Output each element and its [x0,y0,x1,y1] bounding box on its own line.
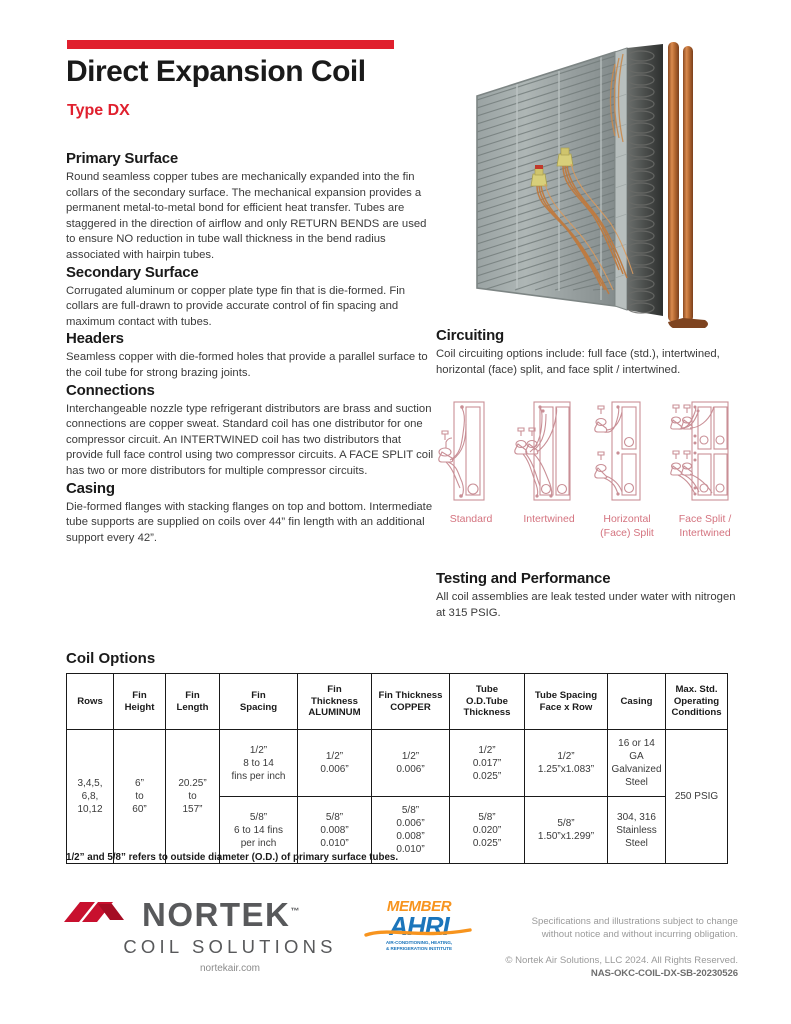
section-body: Corrugated aluminum or copper plate type… [66,284,434,331]
ahri-member-badge: MEMBER AHRI AIR-CONDITIONING, HEATING, &… [360,900,478,952]
coil-illustration [455,38,743,328]
disclaimer-line-1: Specifications and illustrations subject… [490,915,738,928]
cell-fin-thickness-aluminum: 1/2” 0.006” [298,730,372,797]
document-code: NAS-OKC-COIL-DX-SB-20230526 [490,967,738,980]
nortek-chevron-mark-icon [64,900,136,930]
cell-tube-spacing: 1/2” 1.25”x1.083” [525,730,608,797]
cell-fin-length: 20.25” to 157” [166,730,220,864]
standard-circuit-icon [432,396,510,504]
circuiting-label: Standard [432,512,510,526]
section-heading: Casing [66,480,434,497]
col-header-fin-length: Fin Length [166,674,220,730]
trademark-symbol: ™ [290,906,299,916]
cell-tube-od-thickness: 1/2” 0.017” 0.025” [450,730,525,797]
circuiting-label: Intertwined [510,512,588,526]
col-header-fin-spacing: Fin Spacing [220,674,298,730]
face-split-intertwined-circuit-icon [666,396,744,504]
cell-fin-thickness-copper: 1/2” 0.006” [372,730,450,797]
section-body: Coil circuiting options include: full fa… [436,347,736,378]
coil-options-table: Rows Fin Height Fin Length Fin Spacing F… [66,673,728,864]
copyright-notice: © Nortek Air Solutions, LLC 2024. All Ri… [490,954,738,967]
section-circuiting: Circuiting Coil circuiting options inclu… [436,327,736,378]
nortek-wordmark: NORTEK™ [142,898,299,931]
circuiting-label: Horizontal (Face) Split [588,512,666,540]
table-title: Coil Options [66,650,155,667]
legal-footer: Specifications and illustrations subject… [490,915,738,980]
section-secondary-surface: Secondary Surface Corrugated aluminum or… [66,264,434,331]
col-header-max-std-operating-conditions: Max. Std. Operating Conditions [666,674,728,730]
col-header-fin-thickness-copper: Fin Thickness COPPER [372,674,450,730]
nortek-tagline: COIL SOLUTIONS [64,936,354,958]
cell-tube-spacing: 5/8” 1.50”x1.299” [525,797,608,864]
nortek-logo: NORTEK™ COIL SOLUTIONS [64,898,354,958]
circuiting-diagram-standard: Standard [432,396,510,526]
circuiting-diagram-face-split-intertwined: Face Split / Intertwined [666,396,744,540]
circuiting-label: Face Split / Intertwined [666,512,744,540]
table-header-row: Rows Fin Height Fin Length Fin Spacing F… [67,674,728,730]
section-body: All coil assemblies are leak tested unde… [436,590,736,621]
website-url[interactable]: nortekair.com [64,963,354,974]
section-heading: Primary Surface [66,150,434,167]
col-header-fin-thickness-aluminum: Fin Thickness ALUMINUM [298,674,372,730]
section-body: Die-formed flanges with stacking flanges… [66,500,434,547]
header-accent-rule [67,40,394,49]
ahri-tagline: AIR-CONDITIONING, HEATING, & REFRIGERATI… [360,940,478,952]
cell-max-std-operating-conditions: 250 PSIG [666,730,728,864]
section-heading: Headers [66,330,434,347]
col-header-tube-spacing: Tube Spacing Face x Row [525,674,608,730]
section-heading: Connections [66,382,434,399]
section-heading: Testing and Performance [436,570,736,587]
section-casing: Casing Die-formed flanges with stacking … [66,480,434,547]
cell-tube-od-thickness: 5/8” 0.020” 0.025” [450,797,525,864]
horizontal-split-circuit-icon [588,396,666,504]
circuiting-diagram-row: Standard [432,396,744,561]
section-primary-surface: Primary Surface Round seamless copper tu… [66,150,434,264]
page-title: Direct Expansion Coil [66,55,366,89]
section-connections: Connections Interchangeable nozzle type … [66,382,434,480]
section-body: Seamless copper with die-formed holes th… [66,350,434,381]
section-heading: Circuiting [436,327,736,344]
col-header-fin-height: Fin Height [114,674,166,730]
cell-casing: 16 or 14 GA Galvanized Steel [608,730,666,797]
table-footnote: 1/2” and 5/8” refers to outside diameter… [66,852,398,863]
product-photo-dx-coil [455,38,743,328]
section-heading: Secondary Surface [66,264,434,281]
cell-rows: 3,4,5, 6,8, 10,12 [67,730,114,864]
intertwined-circuit-icon [510,396,588,504]
cell-fin-height: 6” to 60” [114,730,166,864]
circuiting-diagram-horizontal-face-split: Horizontal (Face) Split [588,396,666,540]
section-body: Round seamless copper tubes are mechanic… [66,170,434,264]
col-header-casing: Casing [608,674,666,730]
cell-fin-spacing: 1/2” 8 to 14 fins per inch [220,730,298,797]
col-header-rows: Rows [67,674,114,730]
section-testing-and-performance: Testing and Performance All coil assembl… [436,570,736,621]
col-header-tube-od-thickness: Tube O.D.Tube Thickness [450,674,525,730]
section-headers: Headers Seamless copper with die-formed … [66,330,434,381]
circuiting-diagram-intertwined: Intertwined [510,396,588,526]
table-row: 3,4,5, 6,8, 10,12 6” to 60” 20.25” to 15… [67,730,728,797]
disclaimer-line-2: without notice and without incurring obl… [490,928,738,941]
ahri-logo-text: AHRI [360,914,478,939]
left-content-column: Primary Surface Round seamless copper tu… [66,150,434,546]
page-subtitle: Type DX [67,102,130,120]
section-body: Interchangeable nozzle type refrigerant … [66,402,434,480]
cell-casing: 304, 316 Stainless Steel [608,797,666,864]
datasheet-page: Direct Expansion Coil Type DX [0,0,791,1024]
